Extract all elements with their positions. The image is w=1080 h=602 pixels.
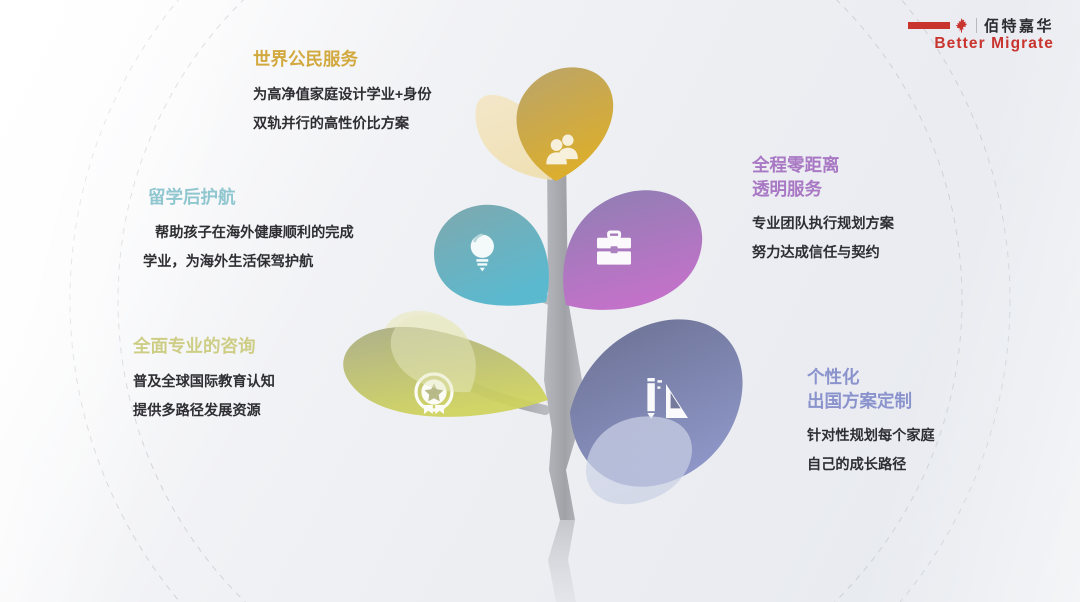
leaf-purple[interactable] <box>562 190 702 310</box>
brand-logo[interactable]: 佰特嘉华 Better Migrate <box>904 16 1054 53</box>
logo-red-bar <box>908 22 950 29</box>
text-block-personalized-plan-customization: 个性化 出国方案定制 针对性规划每个家庭 自己的成长路径 <box>807 365 935 480</box>
text-block-world-citizen-service: 世界公民服务 为高净值家庭设计学业+身份 双轨并行的高性价比方案 <box>253 47 432 139</box>
leaf-teal[interactable] <box>434 205 549 306</box>
block-body-line: 提供多路径发展资源 <box>133 397 275 426</box>
text-block-comprehensive-consulting: 全面专业的咨询 普及全球国际教育认知 提供多路径发展资源 <box>133 334 275 426</box>
block-body-line: 帮助孩子在海外健康顺利的完成 <box>155 219 354 248</box>
logo-top-row: 佰特嘉华 <box>904 16 1054 34</box>
leaf-indigo[interactable] <box>570 319 743 504</box>
block-body-line: 为高净值家庭设计学业+身份 <box>253 81 432 110</box>
block-body-line: 普及全球国际教育认知 <box>133 368 275 397</box>
logo-chinese-name: 佰特嘉华 <box>984 15 1054 36</box>
logo-english-name: Better Migrate <box>904 35 1054 53</box>
block-heading-line-2: 透明服务 <box>752 177 894 201</box>
tree-trunk-reflection <box>548 520 576 602</box>
block-heading-line-1: 个性化 <box>807 365 935 389</box>
block-body-line: 努力达成信任与契约 <box>752 239 894 268</box>
block-body-line: 针对性规划每个家庭 <box>807 422 935 451</box>
growth-tree-illustration <box>0 0 1080 602</box>
text-block-zero-distance-transparent-service: 全程零距离 透明服务 专业团队执行规划方案 努力达成信任与契约 <box>752 153 894 268</box>
block-body-line: 双轨并行的高性价比方案 <box>253 110 432 139</box>
block-heading-group: 个性化 出国方案定制 <box>807 365 935 413</box>
block-heading-line-2: 出国方案定制 <box>807 389 935 413</box>
block-heading: 全面专业的咨询 <box>133 334 275 359</box>
block-heading: 世界公民服务 <box>253 47 432 72</box>
maple-leaf-icon <box>953 17 970 34</box>
block-body-line: 自己的成长路径 <box>807 451 935 480</box>
block-heading-group: 全程零距离 透明服务 <box>752 153 894 201</box>
leaf-olive[interactable] <box>343 315 548 417</box>
logo-divider <box>976 18 977 33</box>
text-block-post-study-escort: 留学后护航 帮助孩子在海外健康顺利的完成 学业，为海外生活保驾护航 <box>143 185 354 277</box>
block-body-line: 学业，为海外生活保驾护航 <box>143 248 354 277</box>
block-body-line: 专业团队执行规划方案 <box>752 210 894 239</box>
presentation-slide: 佰特嘉华 Better Migrate 世界公民服务 为高净值家庭设计学业+身份… <box>0 0 1080 602</box>
tree-trunk <box>544 150 582 520</box>
block-heading: 留学后护航 <box>148 185 354 210</box>
block-heading-line-1: 全程零距离 <box>752 153 894 177</box>
